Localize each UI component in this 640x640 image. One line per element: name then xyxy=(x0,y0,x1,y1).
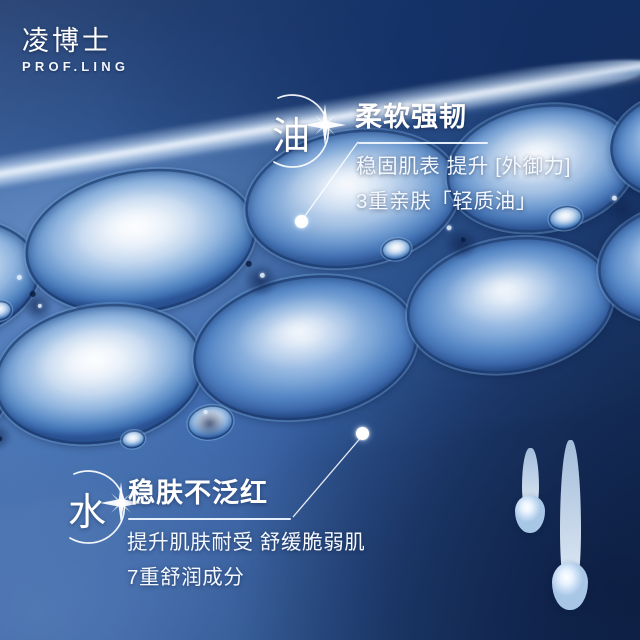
callout-oil-line-1: 稳固肌表 提升 [外御力] xyxy=(356,152,571,182)
brand-logo: 凌博士 PROF.LING xyxy=(22,26,129,74)
brand-name-en: PROF.LING xyxy=(22,59,129,74)
callout-water-line-2: 7重舒润成分 xyxy=(127,563,245,593)
callout-oil-title: 柔软强韧 xyxy=(355,101,467,133)
callout-water-line-1: 提升肌肤耐受 舒缓脆弱肌 xyxy=(127,528,365,558)
badge-water-glyph: 水 xyxy=(48,466,132,550)
callout-water-marker-dot xyxy=(356,427,369,440)
callout-oil-rule xyxy=(358,142,488,144)
callout-water-rule xyxy=(128,518,291,520)
callout-oil-marker-dot xyxy=(295,215,308,228)
brand-name-cn: 凌博士 xyxy=(22,26,129,56)
callout-oil-line-2: 3重亲肤「轻质油」 xyxy=(356,187,537,217)
callout-water-title: 稳肤不泛红 xyxy=(128,477,268,509)
badge-water: 水 xyxy=(48,466,132,550)
product-infographic-poster: 凌博士 PROF.LING 油 柔软强韧 稳固肌表 提升 [外御力] 3重亲肤「… xyxy=(0,0,640,640)
